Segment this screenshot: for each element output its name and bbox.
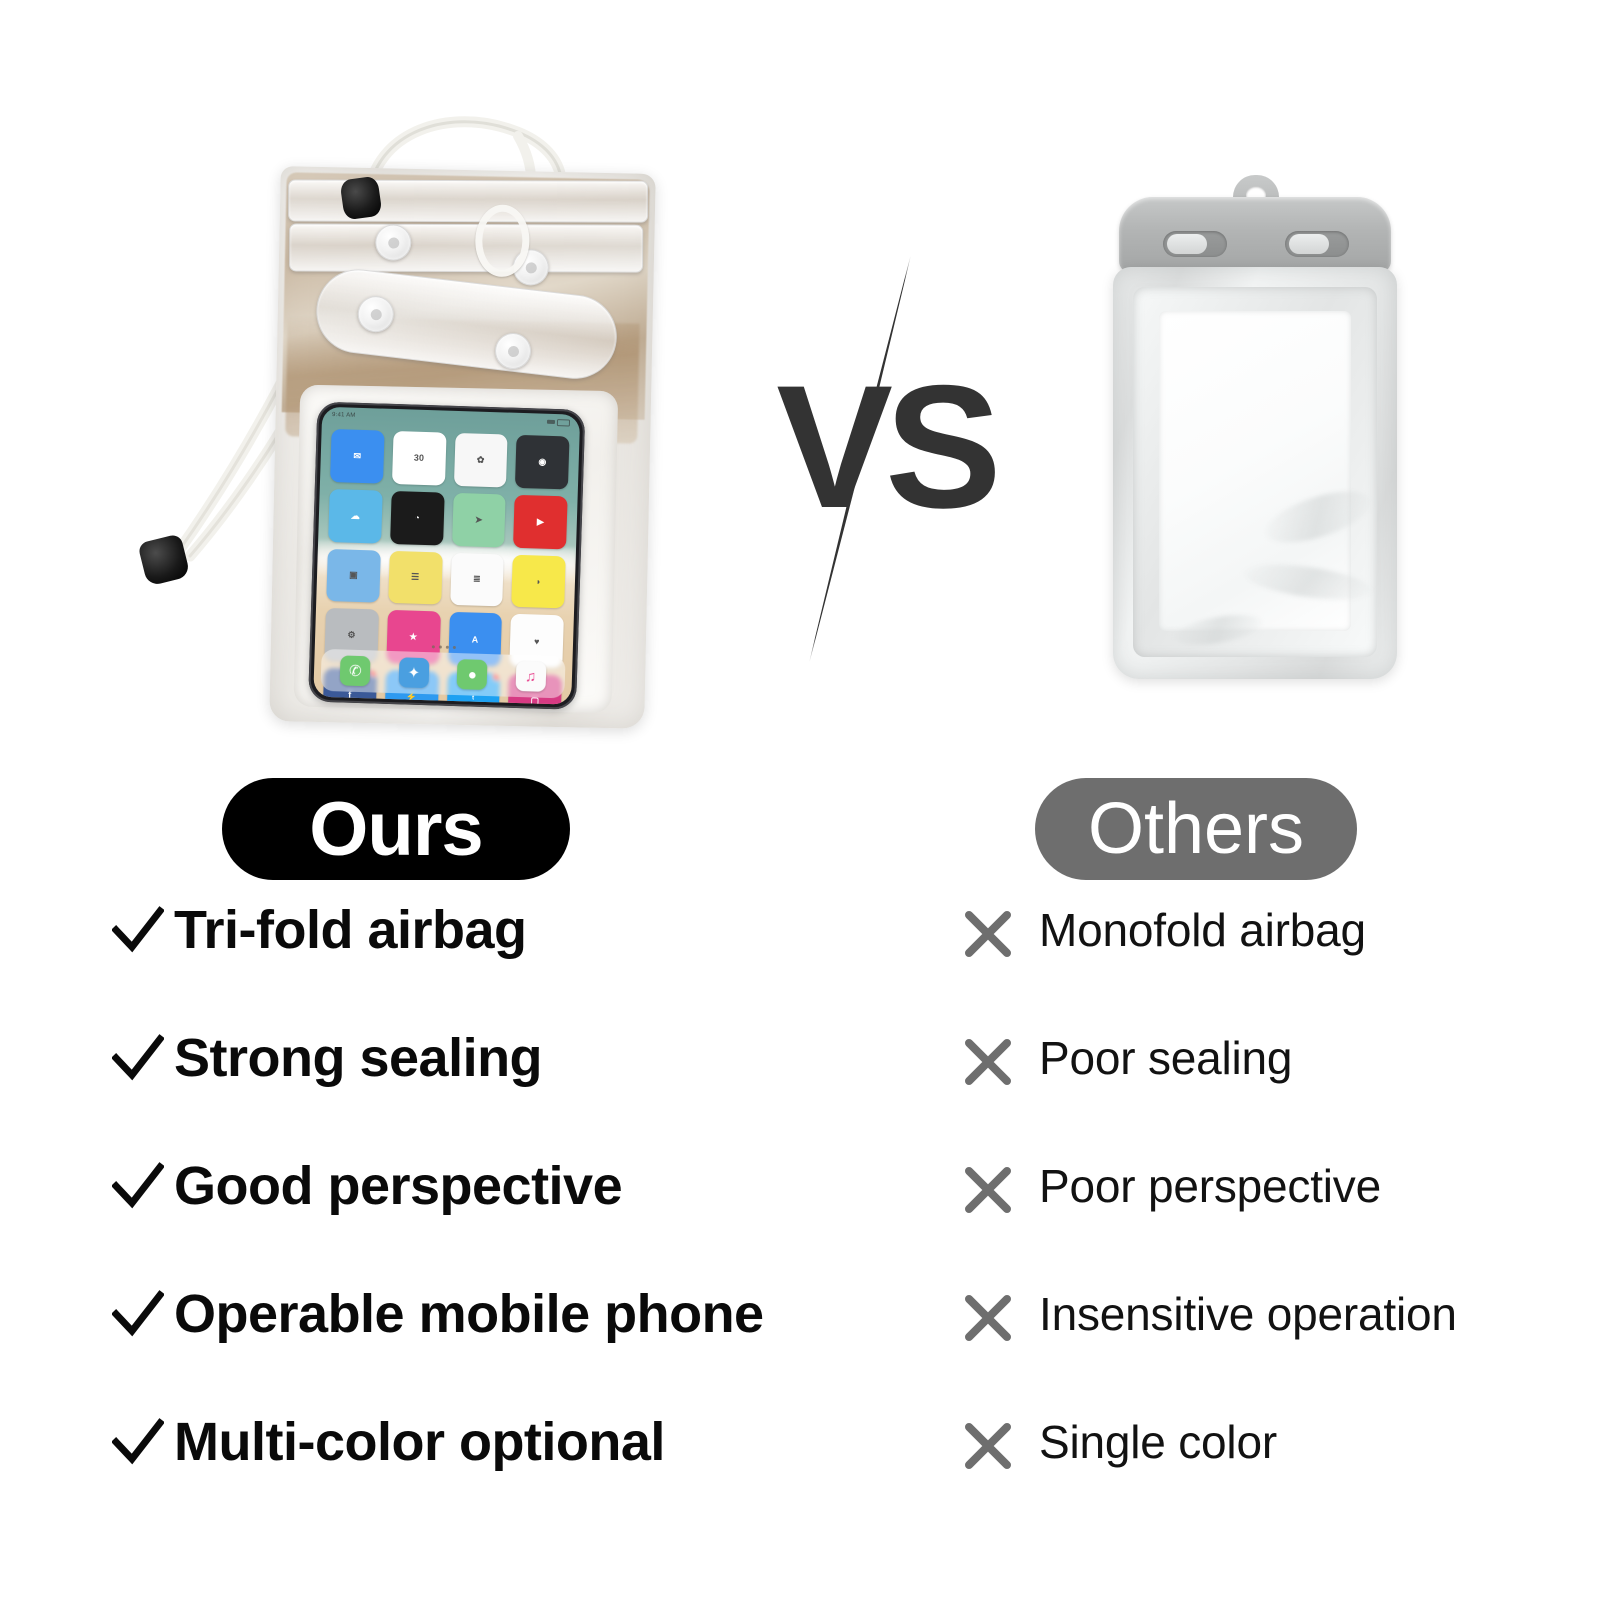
- vs-divider: VS: [740, 250, 1030, 680]
- page-dot: [446, 646, 449, 649]
- check-icon: [112, 1290, 164, 1338]
- page-dot: [453, 646, 456, 649]
- clock-app: ◔: [390, 491, 444, 545]
- page-dot: [439, 645, 442, 648]
- ours-feature-label: Strong sealing: [174, 1027, 542, 1089]
- battery-icon: [557, 419, 570, 426]
- weather-app: ☁: [328, 489, 382, 543]
- comparison-infographic: 9:41 AM ✉30✿◉☁◔➤▶▣☰≣◗⚙★A♥f⚡ᵗ▢➤▭ ✆✦●♫: [0, 0, 1601, 1601]
- ours-feature-label: Multi-color optional: [174, 1411, 665, 1473]
- check-icon-wrap: [112, 1412, 168, 1472]
- phone-app: ✆: [340, 655, 371, 686]
- calendar-app: 30: [392, 431, 446, 485]
- phone-screen: 9:41 AM ✉30✿◉☁◔➤▶▣☰≣◗⚙★A♥f⚡ᵗ▢➤▭ ✆✦●♫: [313, 407, 580, 705]
- others-feature-label: Monofold airbag: [1039, 903, 1366, 957]
- vs-label: VS: [740, 360, 1030, 535]
- cross-icon: [963, 1166, 1013, 1214]
- others-feature-row: Insensitive operation: [955, 1284, 1457, 1344]
- check-icon-wrap: [112, 1156, 168, 1216]
- status-time: 9:41 AM: [332, 412, 356, 419]
- ours-pouch: 9:41 AM ✉30✿◉☁◔➤▶▣☰≣◗⚙★A♥f⚡ᵗ▢➤▭ ✆✦●♫: [269, 166, 656, 729]
- check-icon-wrap: [112, 1284, 168, 1344]
- reminders-app: ≣: [450, 552, 504, 606]
- check-icon: [112, 1034, 164, 1082]
- others-badge: Others: [1035, 778, 1357, 880]
- ours-feature-row: Multi-color optional: [112, 1412, 665, 1472]
- signal-icon: [547, 420, 555, 424]
- others-feature-label: Poor perspective: [1039, 1159, 1381, 1213]
- others-pouch-body: [1113, 267, 1397, 679]
- music-app: ♫: [515, 661, 546, 692]
- youtube-app: ▶: [513, 495, 567, 549]
- others-feature-label: Poor sealing: [1039, 1031, 1292, 1085]
- maps-app: ➤: [452, 493, 506, 547]
- phone-inside-pouch: 9:41 AM ✉30✿◉☁◔➤▶▣☰≣◗⚙★A♥f⚡ᵗ▢➤▭ ✆✦●♫: [308, 402, 585, 710]
- clamp-lock-bar: [1119, 197, 1391, 273]
- snapchat-app: ◗: [511, 554, 565, 608]
- cross-icon: [963, 1038, 1013, 1086]
- badge-row: Ours Others: [0, 778, 1601, 882]
- ours-badge: Ours: [222, 778, 570, 880]
- notes-app: ☰: [388, 550, 442, 604]
- ours-feature-row: Strong sealing: [112, 1028, 542, 1088]
- messages-app: ●: [457, 659, 488, 690]
- lock-slider-left: [1163, 231, 1227, 257]
- ours-feature-row: Good perspective: [112, 1156, 622, 1216]
- others-feature-row: Single color: [955, 1412, 1277, 1472]
- check-icon: [112, 906, 164, 954]
- phone-dock: ✆✦●♫: [320, 649, 565, 699]
- others-feature-label: Insensitive operation: [1039, 1287, 1457, 1341]
- cross-icon-wrap: [955, 1412, 1029, 1472]
- ours-feature-row: Tri-fold airbag: [112, 900, 527, 960]
- others-feature-row: Monofold airbag: [955, 900, 1366, 960]
- check-icon: [112, 1418, 164, 1466]
- camera-app: ◉: [515, 435, 569, 489]
- cross-icon: [963, 1422, 1013, 1470]
- status-bar: 9:41 AM: [322, 407, 580, 431]
- ours-feature-label: Operable mobile phone: [174, 1283, 764, 1345]
- cord-lock-toggle: [339, 176, 382, 221]
- others-feature-row: Poor sealing: [955, 1028, 1292, 1088]
- cross-icon-wrap: [955, 1284, 1029, 1344]
- cross-icon-wrap: [955, 900, 1029, 960]
- status-indicators: [547, 418, 570, 426]
- check-icon: [112, 1162, 164, 1210]
- cross-icon-wrap: [955, 1156, 1029, 1216]
- feature-comparison-lists: Tri-fold airbagStrong sealingGood perspe…: [0, 900, 1601, 1500]
- seal-fold-middle: [289, 223, 643, 272]
- others-feature-label: Single color: [1039, 1415, 1277, 1469]
- mail-app: ✉: [330, 429, 384, 483]
- others-product-image: [1105, 175, 1405, 695]
- cross-icon-wrap: [955, 1028, 1029, 1088]
- ours-feature-label: Tri-fold airbag: [174, 899, 527, 961]
- ours-product-image: 9:41 AM ✉30✿◉☁◔➤▶▣☰≣◗⚙★A♥f⚡ᵗ▢➤▭ ✆✦●♫: [120, 70, 680, 740]
- safari-app: ✦: [398, 657, 429, 688]
- cross-icon: [963, 910, 1013, 958]
- others-feature-row: Poor perspective: [955, 1156, 1381, 1216]
- lock-slider-right: [1285, 231, 1349, 257]
- check-icon-wrap: [112, 900, 168, 960]
- photos-alt-app: ▣: [326, 548, 380, 602]
- check-icon-wrap: [112, 1028, 168, 1088]
- product-comparison-area: 9:41 AM ✉30✿◉☁◔➤▶▣☰≣◗⚙★A♥f⚡ᵗ▢➤▭ ✆✦●♫: [0, 0, 1601, 745]
- ours-feature-row: Operable mobile phone: [112, 1284, 764, 1344]
- photos-app: ✿: [453, 433, 507, 487]
- page-dot: [432, 645, 435, 648]
- cross-icon: [963, 1294, 1013, 1342]
- ours-feature-label: Good perspective: [174, 1155, 622, 1217]
